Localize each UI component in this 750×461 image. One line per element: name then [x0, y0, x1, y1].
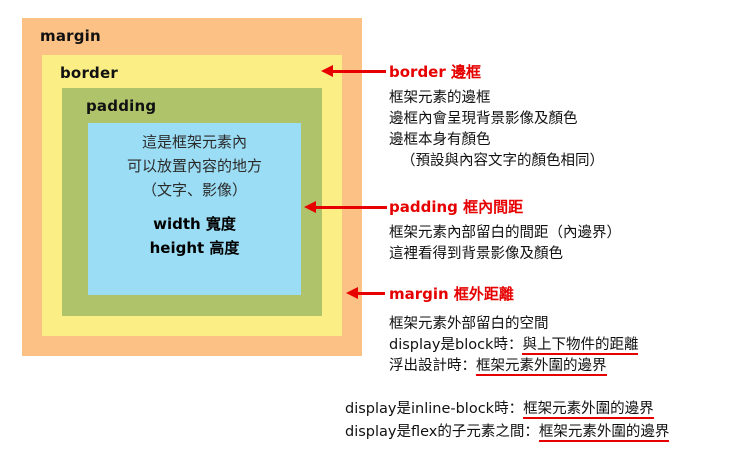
margin-line3-emphasis: 框架元素外圍的邊界 [476, 358, 607, 376]
content-height-label: height 高度 [88, 236, 301, 260]
padding-annotation-line: 框架元素內部留白的間距（內邊界） [389, 223, 621, 244]
padding-pointer-arrow-icon [315, 206, 387, 209]
box-model-diagram: margin border padding 這是框架元素內 可以放置內容的地方 … [22, 18, 362, 356]
content-area-text: 這是框架元素內 可以放置內容的地方 （文字、影像） width 寬度 heigh… [88, 130, 301, 260]
bottom-note2-prefix: display是flex的子元素之間： [345, 424, 539, 440]
content-width-label: width 寬度 [88, 212, 301, 236]
bottom-note2-emphasis: 框架元素外圍的邊界 [539, 424, 670, 442]
margin-annotation: margin 框外距離 框架元素外部留白的空間 display是block時：與… [389, 283, 638, 377]
padding-layer-label: padding [86, 97, 156, 115]
padding-annotation: padding 框內間距 框架元素內部留白的間距（內邊界） 這裡看得到背景影像及… [389, 196, 621, 265]
border-layer-label: border [60, 64, 118, 82]
margin-annotation-heading: margin 框外距離 [389, 283, 638, 304]
content-line: 可以放置內容的地方 [88, 154, 301, 178]
border-annotation-heading: border 邊框 [389, 61, 604, 82]
margin-line2-emphasis: 與上下物件的距離 [522, 337, 638, 355]
padding-annotation-heading: padding 框內間距 [389, 196, 621, 217]
bottom-note1-emphasis: 框架元素外圍的邊界 [523, 401, 654, 419]
annotations-panel: border 邊框 框架元素的邊框 邊框內會呈現背景影像及顏色 邊框本身有顏色 … [389, 0, 750, 461]
border-annotation-line: 邊框內會呈現背景影像及顏色 [389, 109, 604, 130]
border-annotation-line: （預設與內容文字的顏色相同） [389, 151, 604, 172]
bottom-note-line: display是inline-block時：框架元素外圍的邊界 [345, 398, 750, 421]
margin-annotation-line: 框架元素外部留白的空間 [389, 314, 638, 335]
border-annotation-line: 框架元素的邊框 [389, 88, 604, 109]
bottom-notes: display是inline-block時：框架元素外圍的邊界 display是… [345, 398, 750, 444]
border-pointer-arrow-icon [332, 70, 386, 73]
content-line: （文字、影像） [88, 178, 301, 202]
margin-annotation-line: display是block時：與上下物件的距離 [389, 335, 638, 356]
margin-pointer-arrow-icon [357, 292, 385, 295]
border-annotation: border 邊框 框架元素的邊框 邊框內會呈現背景影像及顏色 邊框本身有顏色 … [389, 61, 604, 172]
bottom-note-line: display是flex的子元素之間：框架元素外圍的邊界 [345, 421, 750, 444]
margin-line2-prefix: display是block時： [389, 337, 522, 353]
bottom-note1-prefix: display是inline-block時： [345, 401, 523, 417]
padding-annotation-line: 這裡看得到背景影像及顏色 [389, 244, 621, 265]
margin-line3-prefix: 浮出設計時： [389, 358, 476, 374]
margin-layer-label: margin [40, 27, 101, 45]
border-annotation-line: 邊框本身有顏色 [389, 130, 604, 151]
margin-annotation-line: 浮出設計時：框架元素外圍的邊界 [389, 356, 638, 377]
content-line: 這是框架元素內 [88, 130, 301, 154]
